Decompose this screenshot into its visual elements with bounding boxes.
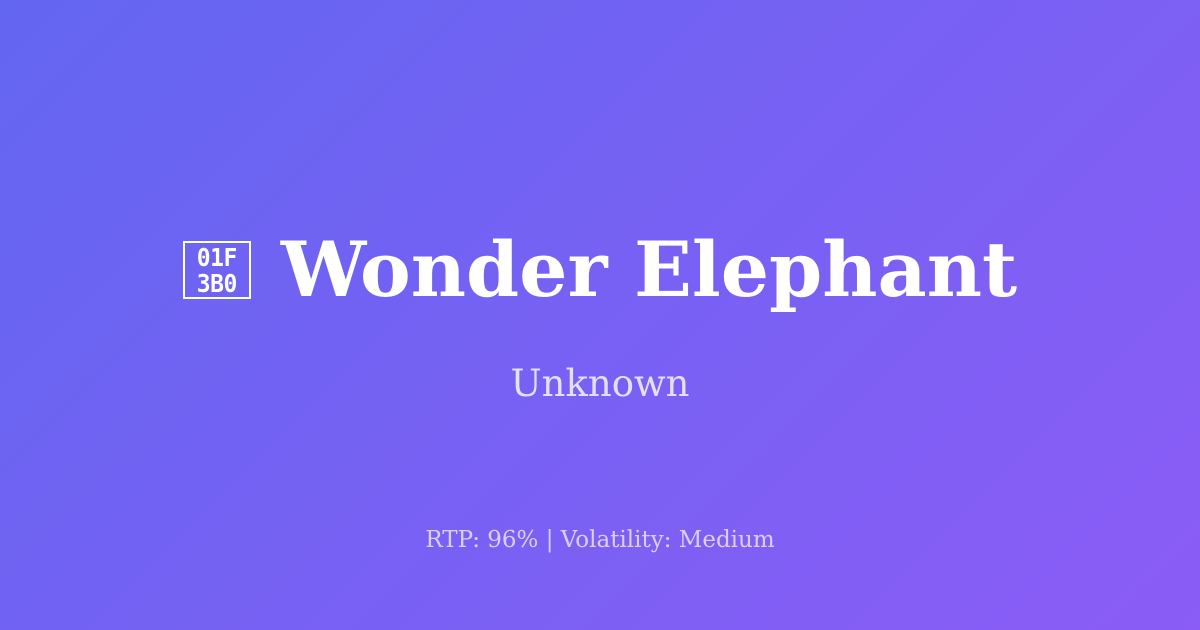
page-title: Wonder Elephant [281, 232, 1017, 308]
title-row: 01F 3B0 Wonder Elephant [0, 232, 1200, 308]
game-provider-label: Unknown [0, 364, 1200, 405]
game-stats-line: RTP: 96% | Volatility: Medium [0, 528, 1200, 553]
tofu-codepoint-bottom: 3B0 [197, 271, 237, 296]
tofu-codepoint-top: 01F [197, 245, 237, 270]
og-share-card: 01F 3B0 Wonder Elephant Unknown RTP: 96%… [0, 0, 1200, 630]
slot-machine-icon: 01F 3B0 [183, 241, 251, 299]
